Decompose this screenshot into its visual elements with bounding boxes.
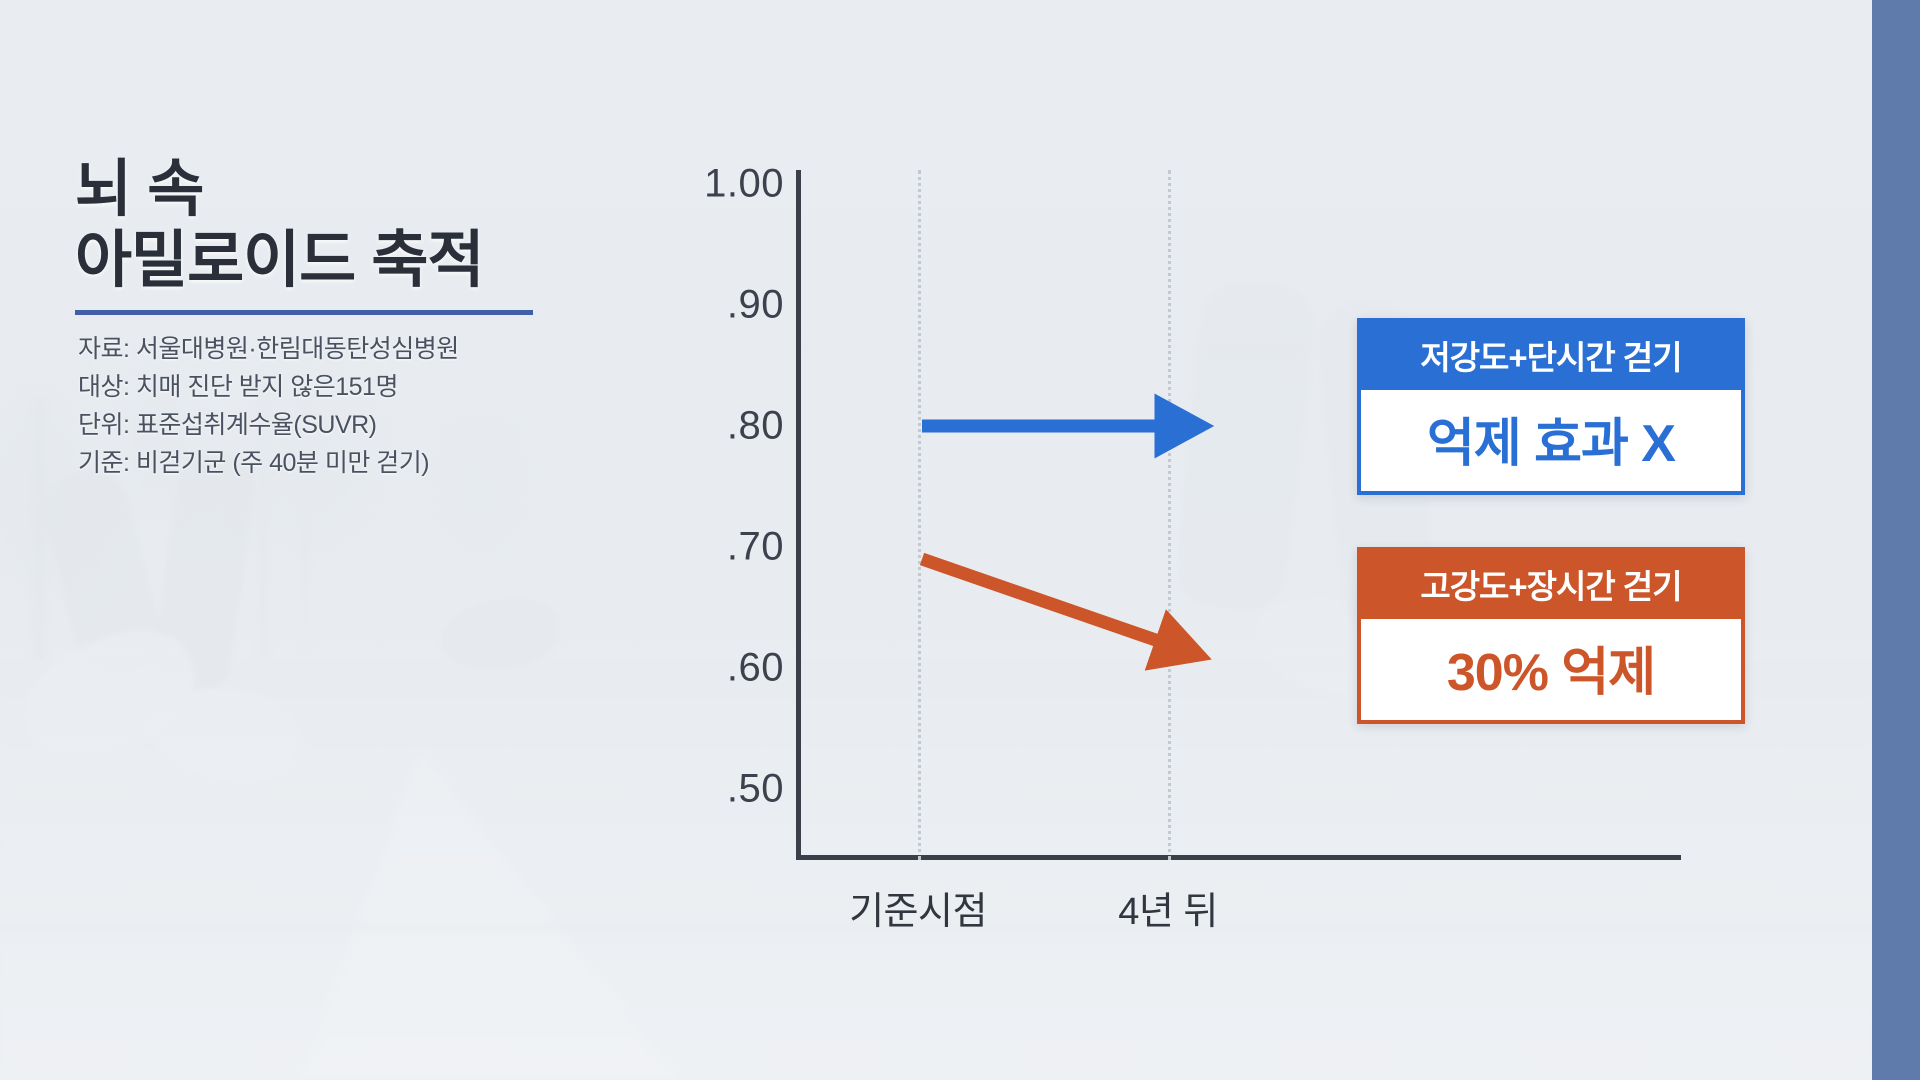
amyloid-chart: 1.00 .90 .80 .70 .60 .50	[700, 170, 1850, 910]
trend-arrow-high-intensity	[922, 559, 1170, 645]
plot-area: 기준시점 4년 뒤	[796, 170, 1676, 860]
meta-source: 자료: 서울대병원·한림대동탄성심병원	[78, 330, 698, 368]
page-title: 뇌 속 아밀로이드 축적	[75, 155, 695, 315]
meta-subjects: 대상: 치매 진단 받지 않은151명	[78, 368, 698, 406]
y-axis-tick-labels: 1.00 .90 .80 .70 .60 .50	[700, 170, 792, 850]
brand-side-bar	[1872, 0, 1920, 1080]
y-tick-label: .80	[727, 404, 784, 449]
callout-low-intensity-result: 억제 효과 X	[1361, 390, 1741, 491]
callout-low-intensity-header: 저강도+단시간 걷기	[1361, 322, 1741, 390]
callout-low-intensity: 저강도+단시간 걷기 억제 효과 X	[1357, 318, 1745, 495]
meta-unit: 단위: 표준섭취계수율(SUVR)	[78, 406, 698, 444]
y-tick-label: 1.00	[704, 162, 784, 207]
y-tick-label: .90	[727, 283, 784, 328]
trend-arrows	[796, 170, 1681, 860]
callout-high-intensity-header: 고강도+장시간 걷기	[1361, 551, 1741, 619]
y-tick-label: .50	[727, 767, 784, 812]
callout-high-intensity: 고강도+장시간 걷기 30% 억제	[1357, 547, 1745, 724]
x-tick-label-baseline: 기준시점	[849, 880, 987, 935]
source-info-block: 자료: 서울대병원·한림대동탄성심병원 대상: 치매 진단 받지 않은151명 …	[78, 330, 698, 482]
page-title-line-1: 뇌 속	[75, 155, 695, 226]
y-tick-label: .60	[727, 646, 784, 691]
y-tick-label: .70	[727, 525, 784, 570]
callout-high-intensity-result: 30% 억제	[1361, 619, 1741, 720]
news-graphic-stage: 뇌 속 아밀로이드 축적 자료: 서울대병원·한림대동탄성심병원 대상: 치매 …	[0, 0, 1920, 1080]
meta-baseline: 기준: 비걷기군 (주 40분 미만 걷기)	[78, 444, 698, 482]
page-title-line-2: 아밀로이드 축적	[75, 226, 695, 297]
x-tick-label-four-years: 4년 뒤	[1118, 880, 1218, 935]
title-underline-rule	[75, 310, 533, 315]
